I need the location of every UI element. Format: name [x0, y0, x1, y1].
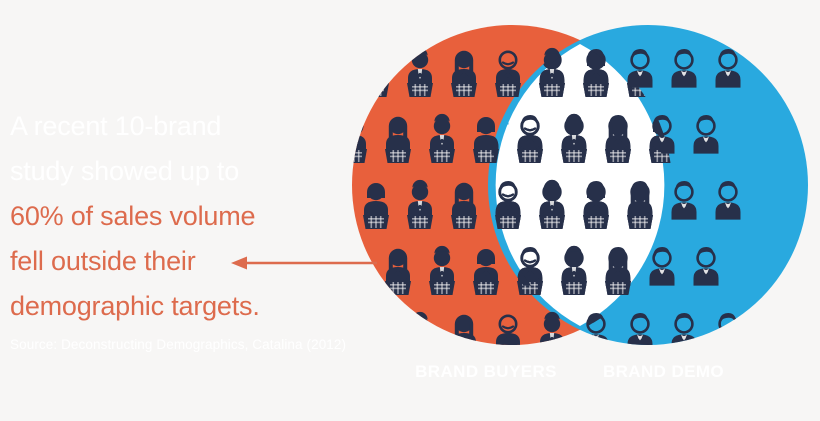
source-note: Source: Deconstructing Demographics, Cat… — [10, 337, 346, 352]
venn-label-brand-buyers: BRAND BUYERS — [406, 362, 566, 382]
venn-diagram — [340, 14, 820, 359]
infographic-canvas: BRAND BUYERS BRAND DEMO A recent 10-bran… — [0, 0, 820, 421]
headline-line-3: 60% of sales volume — [10, 194, 340, 239]
headline-line-5: demographic targets. — [10, 284, 340, 329]
headline-line-4: fell outside their — [10, 239, 340, 284]
headline-line-1: A recent 10-brand — [10, 104, 340, 149]
venn-label-brand-demo: BRAND DEMO — [586, 362, 741, 382]
headline-line-2: study showed up to — [10, 149, 340, 194]
headline-block: A recent 10-brand study showed up to 60%… — [10, 104, 340, 329]
